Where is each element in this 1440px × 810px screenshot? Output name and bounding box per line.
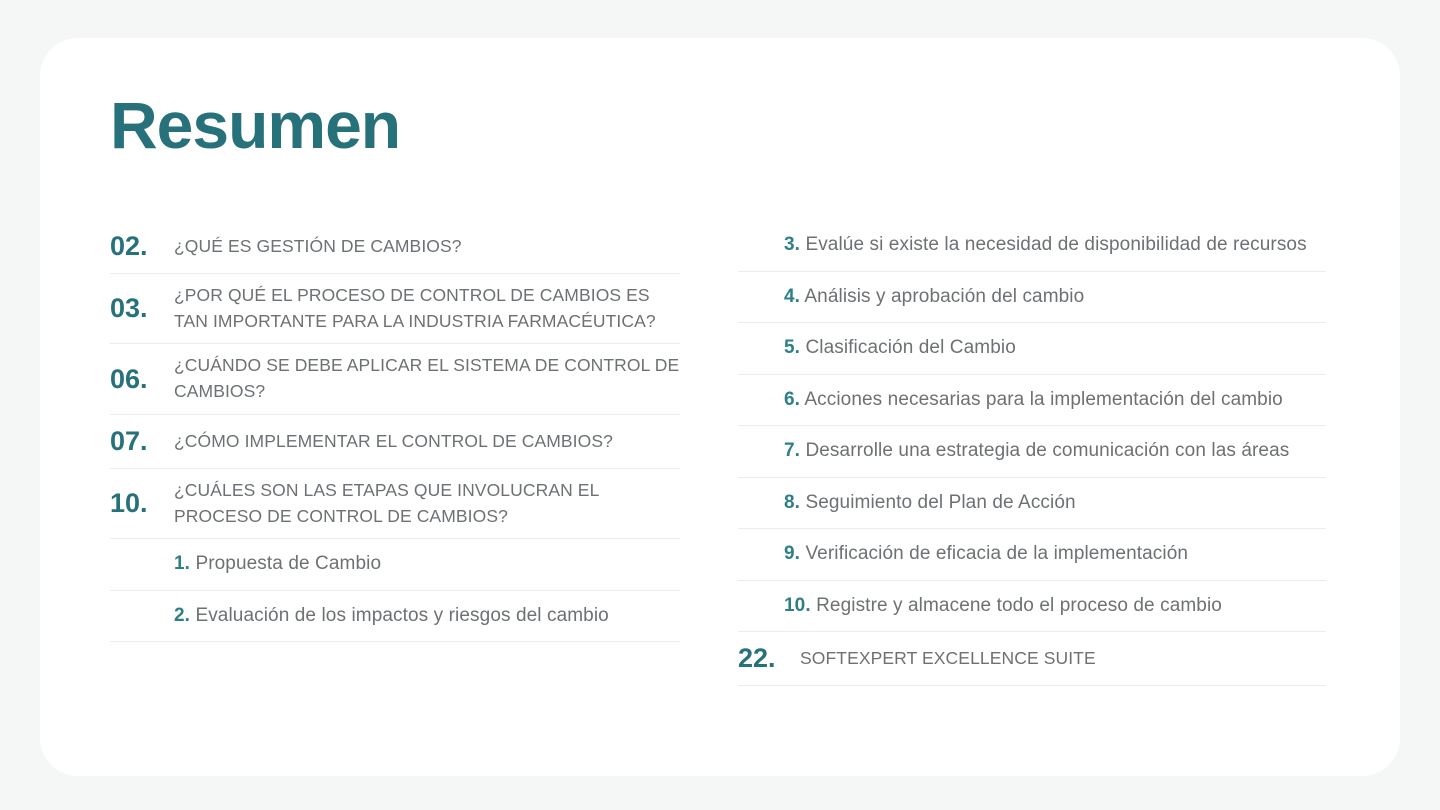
toc-subrow-number: 6. xyxy=(784,389,800,410)
toc-subrow-number: 8. xyxy=(784,492,800,513)
toc-row-number: 10. xyxy=(110,488,174,519)
content-card: Resumen 02.¿QUÉ ES GESTIÓN DE CAMBIOS?03… xyxy=(40,38,1400,776)
toc-row-number: 22. xyxy=(738,643,800,674)
toc-row[interactable]: 7. Desarrolle una estrategia de comunica… xyxy=(738,426,1326,478)
toc-subrow-number: 3. xyxy=(784,234,800,255)
toc-row-number: 02. xyxy=(110,231,174,262)
toc-subrow-number: 7. xyxy=(784,440,800,461)
toc-row[interactable]: 8. Seguimiento del Plan de Acción xyxy=(738,478,1326,530)
toc-subrow-body: 7. Desarrolle una estrategia de comunica… xyxy=(784,437,1289,466)
toc-row[interactable]: 6. Acciones necesarias para la implement… xyxy=(738,375,1326,427)
toc-row[interactable]: 10. Registre y almacene todo el proceso … xyxy=(738,581,1326,633)
toc-subrow-number: 5. xyxy=(784,337,800,358)
toc-row-number: 07. xyxy=(110,426,174,457)
toc-columns: 02.¿QUÉ ES GESTIÓN DE CAMBIOS?03.¿POR QU… xyxy=(40,220,1400,686)
toc-row-number: 03. xyxy=(110,293,174,324)
toc-row-title: ¿POR QUÉ EL PROCESO DE CONTROL DE CAMBIO… xyxy=(174,283,680,334)
toc-subrow-title: Registre y almacene todo el proceso de c… xyxy=(816,595,1222,616)
toc-subrow-body: 3. Evalúe si existe la necesidad de disp… xyxy=(784,231,1307,260)
toc-subrow-title: Verificación de eficacia de la implement… xyxy=(805,543,1188,564)
toc-subrow-number: 1. xyxy=(174,553,190,574)
toc-column-right: 3. Evalúe si existe la necesidad de disp… xyxy=(708,220,1400,686)
toc-row[interactable]: 2. Evaluación de los impactos y riesgos … xyxy=(110,591,680,643)
toc-row-number: 06. xyxy=(110,364,174,395)
toc-row[interactable]: 10.¿CUÁLES SON LAS ETAPAS QUE INVOLUCRAN… xyxy=(110,469,680,539)
toc-subrow-title: Propuesta de Cambio xyxy=(195,553,381,574)
toc-row[interactable]: 02.¿QUÉ ES GESTIÓN DE CAMBIOS? xyxy=(110,220,680,274)
toc-row[interactable]: 07.¿CÓMO IMPLEMENTAR EL CONTROL DE CAMBI… xyxy=(110,415,680,469)
toc-subrow-body: 10. Registre y almacene todo el proceso … xyxy=(784,592,1222,621)
toc-subrow-body: 1. Propuesta de Cambio xyxy=(174,550,381,579)
toc-subrow-number: 10. xyxy=(784,595,811,616)
toc-subrow-number: 9. xyxy=(784,543,800,564)
toc-subrow-number: 4. xyxy=(784,286,800,307)
toc-subrow-body: 4. Análisis y aprobación del cambio xyxy=(784,283,1084,312)
toc-row[interactable]: 1. Propuesta de Cambio xyxy=(110,539,680,591)
toc-row[interactable]: 3. Evalúe si existe la necesidad de disp… xyxy=(738,220,1326,272)
toc-row-title: ¿CUÁNDO SE DEBE APLICAR EL SISTEMA DE CO… xyxy=(174,353,680,404)
toc-row[interactable]: 5. Clasificación del Cambio xyxy=(738,323,1326,375)
toc-row[interactable]: 03.¿POR QUÉ EL PROCESO DE CONTROL DE CAM… xyxy=(110,274,680,344)
toc-row[interactable]: 4. Análisis y aprobación del cambio xyxy=(738,272,1326,324)
toc-subrow-title: Evaluación de los impactos y riesgos del… xyxy=(195,605,608,626)
slide-root: Resumen 02.¿QUÉ ES GESTIÓN DE CAMBIOS?03… xyxy=(0,0,1440,810)
toc-subrow-body: 5. Clasificación del Cambio xyxy=(784,334,1016,363)
toc-row-title: ¿QUÉ ES GESTIÓN DE CAMBIOS? xyxy=(174,234,680,260)
page-title: Resumen xyxy=(110,92,400,158)
toc-subrow-body: 6. Acciones necesarias para la implement… xyxy=(784,386,1283,415)
toc-subrow-title: Evalúe si existe la necesidad de disponi… xyxy=(805,234,1306,255)
toc-subrow-title: Desarrolle una estrategia de comunicació… xyxy=(805,440,1289,461)
toc-subrow-body: 2. Evaluación de los impactos y riesgos … xyxy=(174,602,609,631)
toc-row-title: ¿CUÁLES SON LAS ETAPAS QUE INVOLUCRAN EL… xyxy=(174,478,680,529)
toc-row[interactable]: 9. Verificación de eficacia de la implem… xyxy=(738,529,1326,581)
toc-subrow-title: Seguimiento del Plan de Acción xyxy=(805,492,1075,513)
toc-row[interactable]: 06.¿CUÁNDO SE DEBE APLICAR EL SISTEMA DE… xyxy=(110,344,680,414)
toc-subrow-body: 8. Seguimiento del Plan de Acción xyxy=(784,489,1076,518)
toc-row[interactable]: 22.SOFTEXPERT EXCELLENCE SUITE xyxy=(738,632,1326,686)
toc-subrow-title: Clasificación del Cambio xyxy=(805,337,1015,358)
toc-subrow-number: 2. xyxy=(174,605,190,626)
toc-row-title: SOFTEXPERT EXCELLENCE SUITE xyxy=(800,646,1326,672)
toc-subrow-title: Acciones necesarias para la implementaci… xyxy=(804,389,1282,410)
toc-column-left: 02.¿QUÉ ES GESTIÓN DE CAMBIOS?03.¿POR QU… xyxy=(40,220,708,686)
toc-row-title: ¿CÓMO IMPLEMENTAR EL CONTROL DE CAMBIOS? xyxy=(174,429,680,455)
toc-subrow-title: Análisis y aprobación del cambio xyxy=(804,286,1084,307)
toc-subrow-body: 9. Verificación de eficacia de la implem… xyxy=(784,540,1188,569)
